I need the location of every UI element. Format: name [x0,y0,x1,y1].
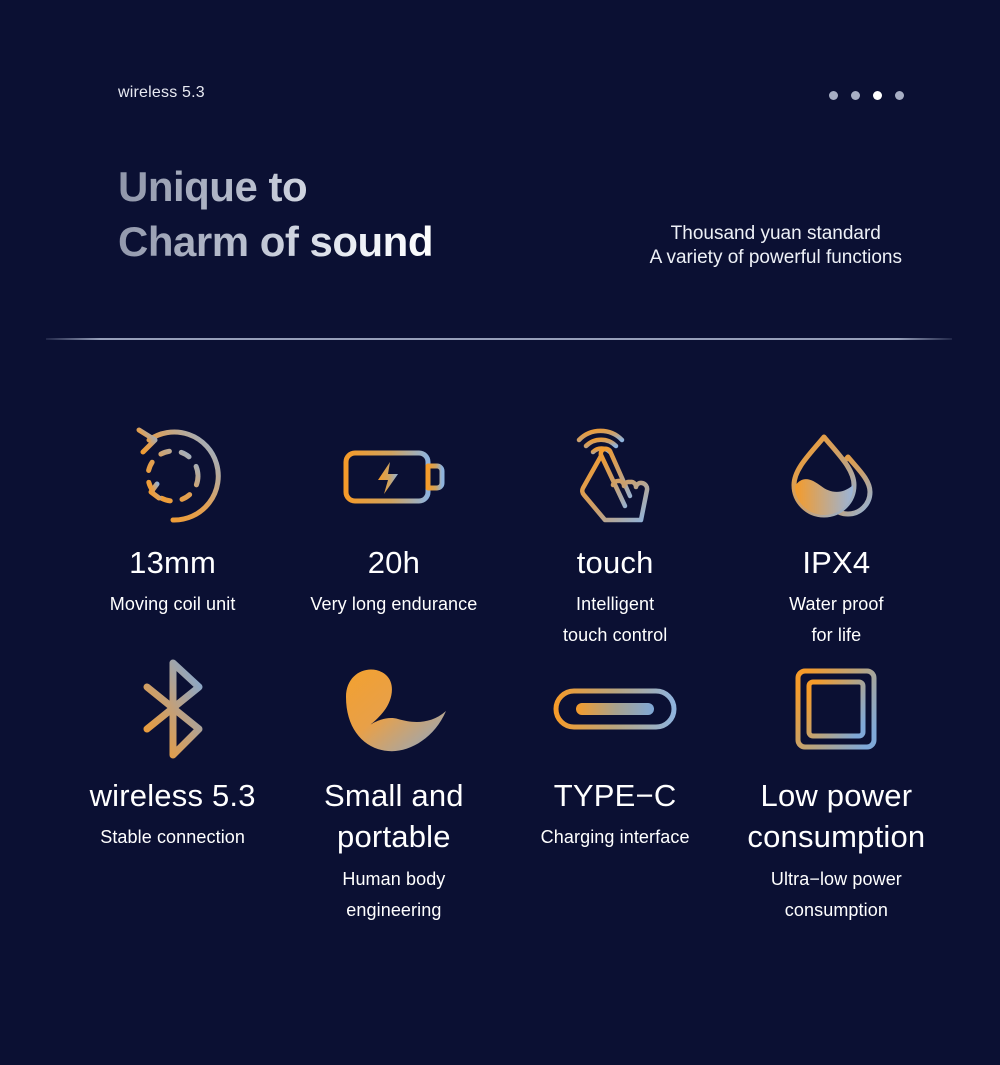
feature-title: wireless 5.3 [90,775,256,816]
feature-item-waterproof: IPX4 Water proof for life [726,420,947,651]
bluetooth-icon [123,657,223,761]
pager-dot-1[interactable] [829,91,838,100]
feature-desc: Moving coil unit [110,589,236,620]
cpu-chip-icon [780,657,892,761]
pager-dot-2[interactable] [851,91,860,100]
feature-desc: Intelligent touch control [563,589,667,651]
feature-desc: Charging interface [541,822,690,853]
rotating-arrow-icon [117,420,229,532]
feature-item-portable: Small and portable Human body engineerin… [283,657,504,925]
page-title: Unique to Charm of sound [118,160,433,269]
page-subtitle: Thousand yuan standard A variety of powe… [650,222,902,271]
feature-desc: Water proof for life [789,589,883,651]
feature-title: TYPE−C [554,775,677,816]
feature-item-lowpower: Low power consumption Ultra−low power co… [726,657,947,925]
battery-charge-icon [338,420,450,532]
feature-desc: Stable connection [100,822,245,853]
feature-title: touch [577,542,654,583]
feature-title: IPX4 [802,542,870,583]
feature-item-typec: TYPE−C Charging interface [505,657,726,925]
pager-dot-4[interactable] [895,91,904,100]
feature-title: Low power consumption [747,775,925,857]
feather-icon [334,657,454,761]
feature-grid: 13mm Moving coil unit [62,420,947,925]
feature-item-touch: touch Intelligent touch control [505,420,726,651]
carousel-pager[interactable] [829,91,904,100]
feature-title: 13mm [129,542,216,583]
product-feature-page: wireless 5.3 Unique to Charm of sound Th… [0,0,1000,1065]
feature-item-driver: 13mm Moving coil unit [62,420,283,651]
feature-item-bluetooth: wireless 5.3 Stable connection [62,657,283,925]
section-divider [46,338,952,340]
feature-title: Small and portable [324,775,464,857]
pager-dot-3-active[interactable] [873,91,882,100]
eyebrow-label: wireless 5.3 [118,84,205,102]
feature-item-battery: 20h Very long endurance [283,420,504,651]
feature-title: 20h [368,542,420,583]
feature-desc: Ultra−low power consumption [771,864,902,926]
usb-type-c-icon [550,657,680,761]
water-drops-icon [780,420,892,532]
touch-hand-icon [559,420,671,532]
feature-desc: Very long endurance [310,589,477,620]
feature-desc: Human body engineering [342,864,445,926]
